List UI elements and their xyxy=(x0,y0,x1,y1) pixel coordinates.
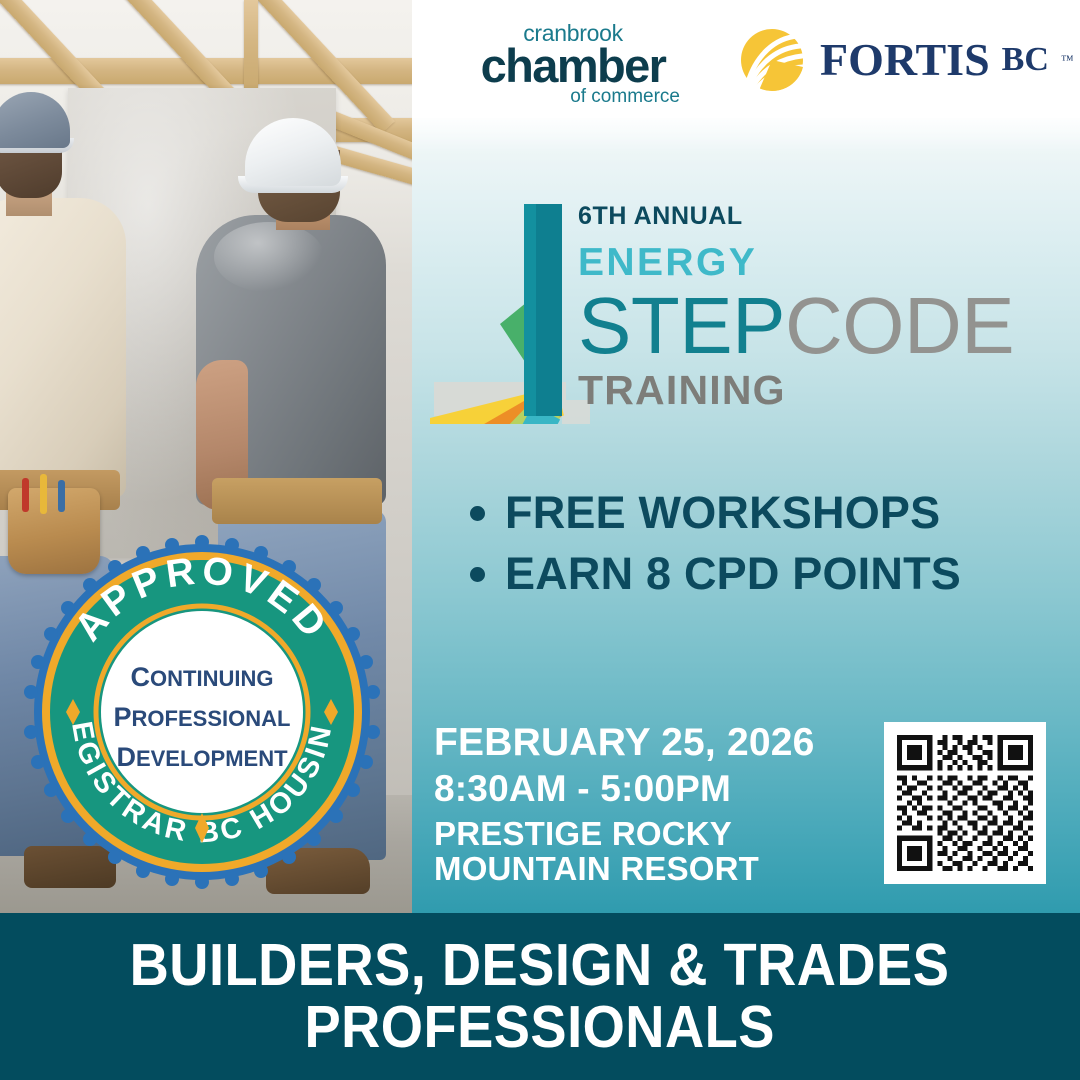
highlight-label: EARN 8 CPD POINTS xyxy=(505,547,961,600)
list-item: EARN 8 CPD POINTS xyxy=(470,547,1050,600)
cranbrook-chamber-logo[interactable]: cranbrook chamber of commerce xyxy=(462,22,684,98)
fortisbc-logo[interactable]: FORTIS BC ™ xyxy=(736,26,1074,94)
poster-canvas: cranbrook chamber of commerce FORTIS BC … xyxy=(0,0,1080,1080)
event-venue-line2: MOUNTAIN RESORT xyxy=(434,851,854,887)
worker-left-head xyxy=(0,146,62,198)
event-edition-label: 6TH ANNUAL xyxy=(578,196,1068,229)
logo-word-training: TRAINING xyxy=(578,370,1068,411)
highlights-list: FREE WORKSHOPS EARN 8 CPD POINTS xyxy=(470,486,1050,608)
fortis-bc-mark: BC xyxy=(1002,41,1049,79)
list-item: FREE WORKSHOPS xyxy=(470,486,1050,539)
logo-strip-fade xyxy=(412,112,1080,152)
logo-word-stepcode: STEPCODE xyxy=(578,286,1068,366)
fortis-trademark-icon: ™ xyxy=(1061,52,1074,68)
qr-code[interactable] xyxy=(884,722,1046,884)
fortis-wordmark: FORTIS xyxy=(820,37,990,83)
fortis-sun-icon xyxy=(736,26,808,94)
event-date: FEBRUARY 25, 2026 xyxy=(434,722,854,764)
tool-handle xyxy=(22,478,29,512)
seal-center-line1: CONTINUING xyxy=(131,662,274,692)
worker-right-toolbelt xyxy=(212,478,382,524)
seal-center-line2: PROFESSIONAL xyxy=(114,702,291,732)
logo-word-code: CODE xyxy=(785,281,1014,370)
banner-line2: PROFESSIONALS xyxy=(305,997,775,1059)
logo-word-step: STEP xyxy=(578,281,785,370)
highlight-label: FREE WORKSHOPS xyxy=(505,486,940,539)
step-code-wordmark: 6TH ANNUAL ENERGY STEPCODE TRAINING xyxy=(578,196,1068,411)
step-code-fan-icon xyxy=(430,202,590,424)
worker-left-shirt xyxy=(0,198,126,498)
bullet-dot-icon xyxy=(470,567,485,582)
worker-right-highlight xyxy=(214,222,324,292)
audience-banner: BUILDERS, DESIGN & TRADES PROFESSIONALS xyxy=(0,913,1080,1080)
banner-line1: BUILDERS, DESIGN & TRADES xyxy=(130,935,950,997)
event-time: 8:30AM - 5:00PM xyxy=(434,768,854,809)
seal-center-line3: DEVELOPMENT xyxy=(116,742,288,772)
event-venue-line1: PRESTIGE ROCKY xyxy=(434,816,854,852)
tool-handle xyxy=(58,480,65,512)
logo-word-energy: ENERGY xyxy=(578,243,1068,282)
cpd-approval-seal: APPROVED REGISTRAR BC HOUSING CONTINUING… xyxy=(18,528,386,896)
truss-post xyxy=(244,0,258,92)
tool-handle xyxy=(40,474,47,514)
event-details: FEBRUARY 25, 2026 8:30AM - 5:00PM PRESTI… xyxy=(434,722,854,887)
bullet-dot-icon xyxy=(470,506,485,521)
chamber-logo-line2: chamber xyxy=(462,42,684,89)
energy-step-code-logo: 6TH ANNUAL ENERGY STEPCODE TRAINING xyxy=(430,196,1070,428)
